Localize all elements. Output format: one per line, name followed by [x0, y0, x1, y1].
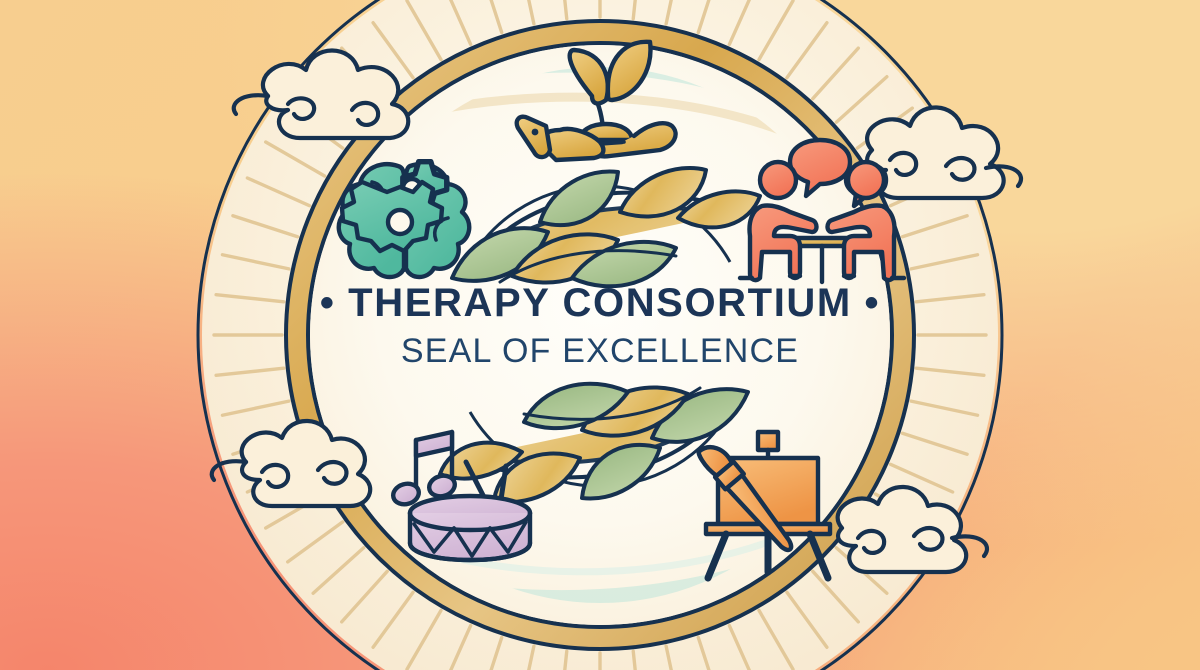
seal-graphic	[0, 0, 1200, 670]
cloud-swirl-upper-right	[867, 107, 1021, 198]
cloud-swirl-lower-right	[838, 487, 987, 572]
seal-artwork-canvas: • THERAPY CONSORTIUM • SEAL OF EXCELLENC…	[0, 0, 1200, 670]
